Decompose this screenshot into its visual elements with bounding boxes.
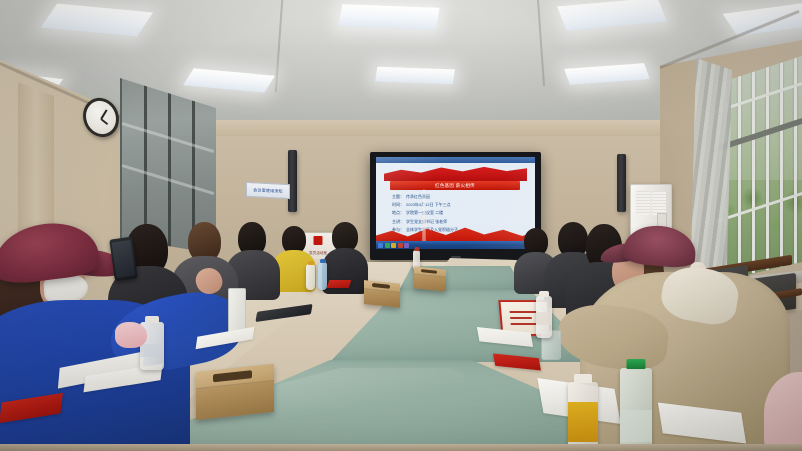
slide-line-key: 地点：: [392, 210, 404, 216]
slide-banner-text: 红色基因 薪火相传: [390, 181, 520, 190]
purifier-grille: [636, 191, 650, 215]
display-brand-logo: [451, 256, 461, 258]
tissue-box: [414, 266, 446, 291]
bottle-cap: [574, 374, 592, 383]
table-edge: [0, 444, 802, 451]
ceiling-light-panel: [338, 4, 439, 29]
app-icon[interactable]: [398, 243, 403, 248]
taskbar-icons[interactable]: [378, 243, 409, 248]
bottle-cap: [320, 259, 326, 263]
slide-banner: 红色基因 薪火相传: [390, 181, 520, 190]
tissue-box: [364, 280, 400, 308]
water-bottle: [306, 264, 315, 290]
app-icon[interactable]: [385, 243, 390, 248]
phone-screen: [112, 240, 136, 278]
meeting-room-photo: 会议室使用须知 党员活动室 红色基因 薪火相传 主题： 传承红色基因 时间：: [0, 0, 802, 451]
certificate-text-line: [510, 317, 532, 319]
water-bottle: [536, 296, 552, 338]
partition-mullion: [168, 91, 171, 253]
water-bottle: [318, 262, 327, 290]
water-bottle-green-cap: [620, 368, 652, 451]
wall-sign-blue-text: 会议室使用须知: [253, 187, 282, 195]
app-icon[interactable]: [391, 243, 396, 248]
back-wall-cornice: [150, 120, 670, 136]
start-icon[interactable]: [378, 243, 383, 248]
certificate-text-line: [509, 311, 537, 313]
display-screen: 红色基因 薪火相传 主题： 传承红色基因 时间： 2023年4月12日 下午三点…: [376, 157, 535, 249]
column-speaker-left: [288, 150, 297, 212]
tissue-box: [196, 364, 274, 420]
emblem-icon: [314, 236, 323, 245]
window-security-bar: [780, 61, 783, 269]
os-taskbar[interactable]: 15:02: [376, 241, 535, 249]
wall-sign-blue: 会议室使用须知: [246, 182, 290, 199]
app-icon[interactable]: [404, 243, 409, 248]
slide-line-key: 主题：: [392, 194, 404, 200]
bottle-cap: [539, 291, 549, 297]
bottle-cap: [308, 261, 314, 265]
window-security-bar: [794, 57, 797, 267]
bottle-label: [536, 312, 552, 325]
presentation-display[interactable]: 红色基因 薪火相传 主题： 传承红色基因 时间： 2023年4月12日 下午三点…: [370, 152, 541, 260]
certificate-text-line: [510, 323, 536, 325]
pink-item: [115, 322, 147, 348]
water-bottle-orange: [568, 382, 598, 448]
slide-line-value: 2023年4月12日 下午三点: [406, 202, 451, 208]
ceiling-light-panel: [375, 67, 455, 85]
slide-line-value: 传承红色基因: [406, 194, 430, 200]
column-speaker-right: [617, 154, 626, 212]
purifier-grille: [652, 191, 666, 215]
bottle-cap: [145, 316, 159, 323]
bottle-cap: [414, 247, 419, 251]
slide-line-key: 主讲：: [392, 219, 404, 225]
bottle-label: [620, 410, 652, 442]
clock-minute-hand: [100, 109, 107, 119]
red-booklet: [327, 280, 352, 288]
bottle-label: [568, 402, 598, 442]
slide-line: 地点： 学院第一会议室 二楼: [392, 210, 518, 216]
slide-line-key: 时间：: [392, 202, 404, 208]
slide-text-block: 主题： 传承红色基因 时间： 2023年4月12日 下午三点 地点： 学院第一会…: [392, 194, 518, 235]
slide-line-value: 学生党支部书记 张老师: [406, 219, 447, 225]
bottle-label: [140, 344, 164, 357]
bottle-cap: [627, 359, 646, 369]
slide-line: 主题： 传承红色基因: [392, 194, 518, 200]
slide-line: 时间： 2023年4月12日 下午三点: [392, 202, 518, 208]
slide-line: 主讲： 学生党支部书记 张老师: [392, 219, 518, 225]
